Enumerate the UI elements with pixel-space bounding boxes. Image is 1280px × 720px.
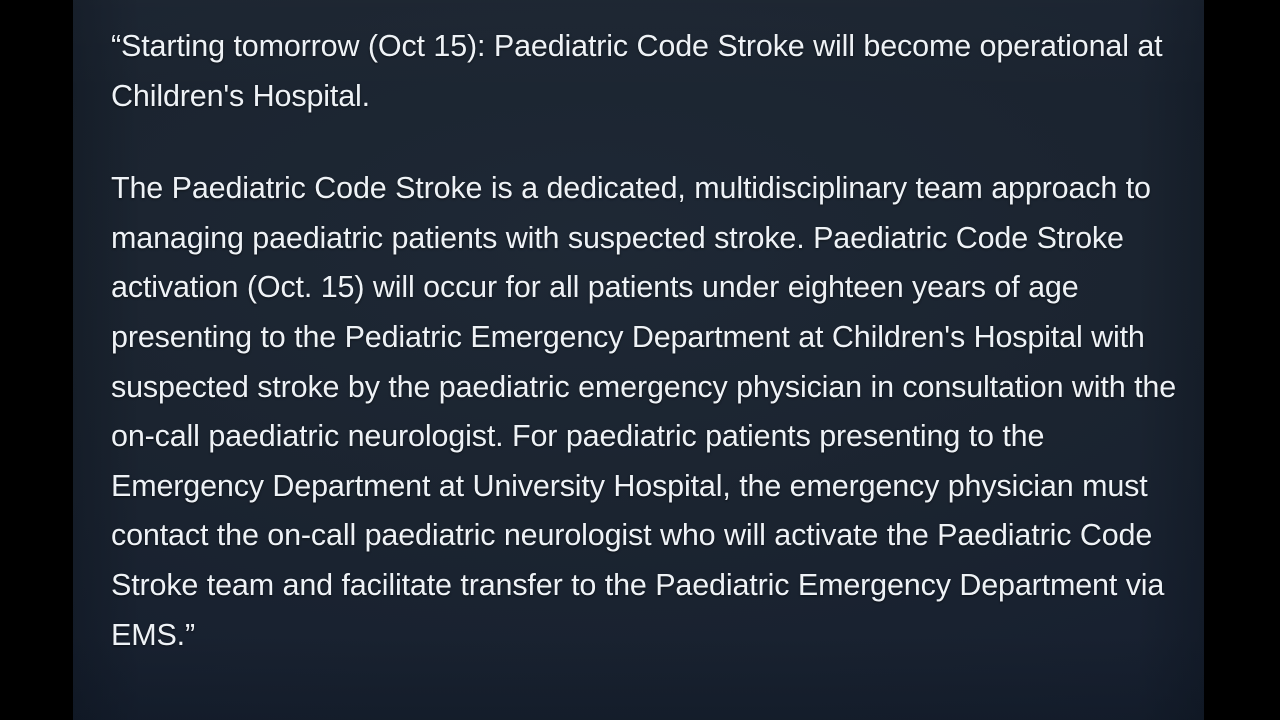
quote-paragraph-2: The Paediatric Code Stroke is a dedicate… [111,164,1186,660]
letterbox-right [1204,0,1280,720]
screenshot-root: “Starting tomorrow (Oct 15): Paediatric … [0,0,1280,720]
letterbox-left [0,0,73,720]
quote-paragraph-1: “Starting tomorrow (Oct 15): Paediatric … [111,22,1186,121]
quote-text-block: “Starting tomorrow (Oct 15): Paediatric … [111,22,1186,660]
slide-canvas: “Starting tomorrow (Oct 15): Paediatric … [73,0,1204,720]
